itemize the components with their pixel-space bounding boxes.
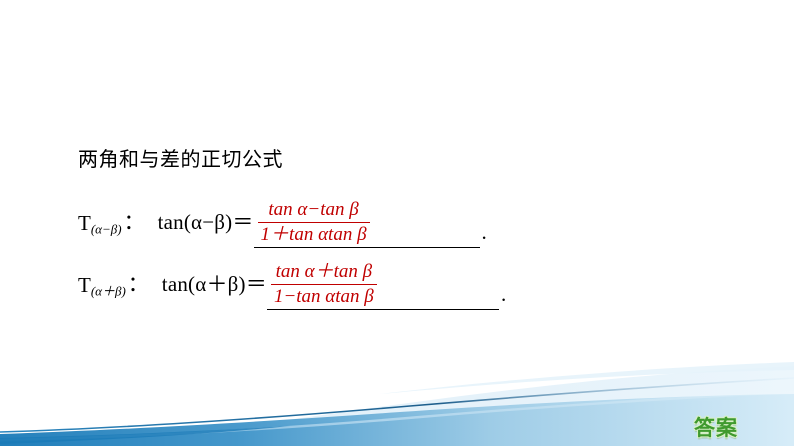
formula-terminator: . bbox=[482, 220, 487, 245]
slide-canvas: 两角和与差的正切公式 T(α−β) ： tan(α−β)＝ tan α−tan … bbox=[0, 0, 794, 446]
formula-tag-subscript: (α−β) bbox=[91, 222, 122, 237]
fraction-denominator: 1＋tan αtan β bbox=[258, 223, 370, 246]
fraction-tan-sum: tan α＋tan β 1−tan αtan β bbox=[267, 261, 381, 308]
formula-lhs-difference: tan(α−β)＝ bbox=[158, 206, 254, 236]
page-title: 两角和与差的正切公式 bbox=[78, 147, 283, 173]
formula-tag-letter: T bbox=[78, 273, 91, 297]
formula-tag-sum: T(α＋β) bbox=[78, 275, 126, 298]
formula-row-tan-sum: T(α＋β) ： tan(α＋β)＝ tan α＋tan β 1−tan αta… bbox=[78, 248, 506, 310]
wave-layer-mid bbox=[0, 400, 794, 446]
formula-terminator: . bbox=[501, 282, 506, 307]
wave-layer-deep bbox=[0, 394, 794, 446]
formula-colon: ： bbox=[124, 206, 145, 236]
wave-layer-pale bbox=[0, 366, 794, 446]
fraction-denominator: 1−tan αtan β bbox=[271, 285, 377, 308]
fraction-tan-difference: tan α−tan β 1＋tan αtan β bbox=[254, 199, 374, 246]
formula-tag-letter: T bbox=[78, 211, 91, 235]
formula-row-tan-difference: T(α−β) ： tan(α−β)＝ tan α−tan β 1＋tan αta… bbox=[78, 186, 487, 248]
formula-tag-difference: T(α−β) bbox=[78, 213, 122, 236]
wave-streak-top bbox=[380, 362, 794, 394]
answer-blank-sum[interactable]: tan α＋tan β 1−tan αtan β bbox=[267, 258, 499, 310]
fraction-numerator: tan α＋tan β bbox=[271, 261, 377, 285]
wave-decoration bbox=[0, 360, 794, 446]
formula-lhs-sum: tan(α＋β)＝ bbox=[162, 268, 267, 298]
formula-tag-subscript: (α＋β) bbox=[91, 284, 126, 299]
answer-blank-difference[interactable]: tan α−tan β 1＋tan αtan β bbox=[254, 196, 480, 248]
wave-ribbon-foreground bbox=[0, 426, 290, 444]
fraction-numerator: tan α−tan β bbox=[258, 199, 370, 223]
formula-colon: ： bbox=[128, 268, 149, 298]
wave-crest-line bbox=[0, 378, 794, 432]
answer-badge[interactable]: 答案 bbox=[694, 416, 738, 442]
wave-wisp-line bbox=[0, 392, 794, 440]
